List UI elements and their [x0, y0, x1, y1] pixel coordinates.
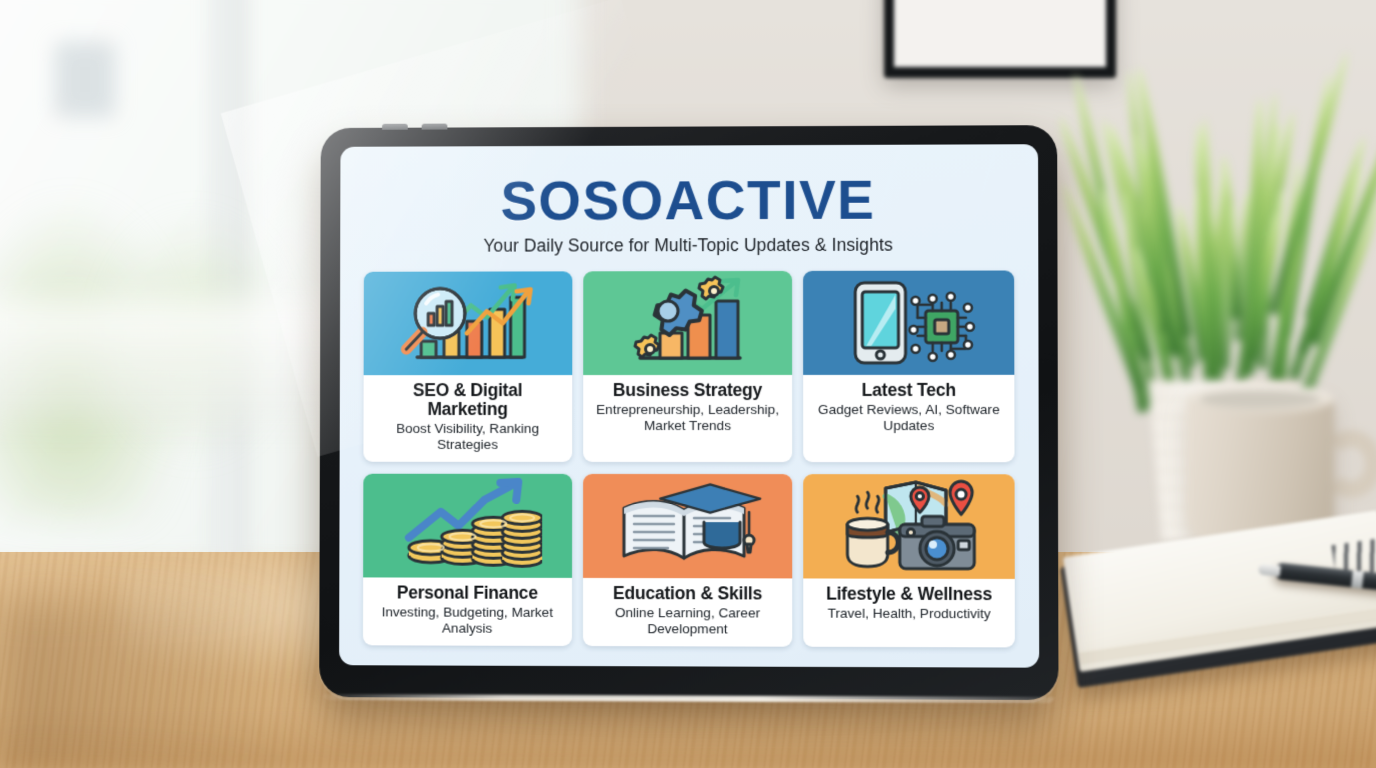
pen-tip: [1258, 564, 1281, 577]
card-body: SEO & Digital Marketing Boost Visibility…: [363, 375, 571, 462]
tablet-device: SOSOACTIVE Your Daily Source for Multi-T…: [319, 125, 1058, 700]
open-book-graduation-cap-icon: [612, 478, 762, 574]
page-title: SOSOACTIVE: [364, 172, 1014, 229]
card-title: Lifestyle & Wellness: [811, 584, 1008, 603]
card-media: [364, 271, 572, 375]
coin-stacks-rising-arrow-icon: [393, 478, 542, 574]
magnifier-bar-chart-growth-arrows-icon: [393, 275, 542, 371]
gears-bar-chart-arrow-icon: [613, 275, 763, 371]
card-body: Education & Skills Online Learning, Care…: [583, 578, 793, 647]
volume-up-button[interactable]: [382, 124, 408, 130]
pen-ring: [1351, 570, 1364, 588]
card-education-skills[interactable]: Education & Skills Online Learning, Care…: [583, 474, 793, 647]
card-description: Investing, Budgeting, Market Analysis: [370, 604, 565, 637]
mug-interior: [1200, 390, 1320, 408]
card-seo-digital-marketing[interactable]: SEO & Digital Marketing Boost Visibility…: [363, 271, 572, 461]
card-title: Business Strategy: [590, 381, 786, 400]
window-pane: [55, 42, 115, 117]
card-body: Lifestyle & Wellness Travel, Health, Pro…: [804, 578, 1015, 647]
page-tagline: Your Daily Source for Multi-Topic Update…: [364, 234, 1014, 256]
card-media: [363, 474, 572, 578]
card-description: Online Learning, Career Development: [590, 605, 786, 638]
card-title: Education & Skills: [590, 584, 786, 603]
category-card-grid: SEO & Digital Marketing Boost Visibility…: [363, 271, 1015, 648]
card-media: [804, 474, 1015, 579]
picture-mat: [894, 0, 1106, 67]
smartphone-circuit-chip-icon: [833, 275, 984, 371]
card-body: Personal Finance Investing, Budgeting, M…: [363, 577, 572, 646]
card-description: Gadget Reviews, AI, Software Updates: [811, 402, 1008, 434]
card-body: Business Strategy Entrepreneurship, Lead…: [583, 375, 793, 462]
card-latest-tech[interactable]: Latest Tech Gadget Reviews, AI, Software…: [803, 271, 1014, 463]
card-title: Personal Finance: [370, 583, 565, 602]
card-business-strategy[interactable]: Business Strategy Entrepreneurship, Lead…: [583, 271, 793, 462]
card-description: Entrepreneurship, Leadership, Market Tre…: [590, 402, 786, 434]
framed-picture: [884, 0, 1116, 78]
card-media: [583, 271, 793, 375]
coffee-mug-map-camera-pin-icon: [833, 478, 984, 575]
spiral-notebook: [1078, 548, 1376, 718]
card-body: Latest Tech Gadget Reviews, AI, Software…: [803, 375, 1014, 462]
card-title: SEO & Digital Marketing: [370, 381, 564, 419]
card-personal-finance[interactable]: Personal Finance Investing, Budgeting, M…: [363, 474, 572, 646]
card-media: [803, 271, 1014, 375]
volume-down-button[interactable]: [422, 124, 448, 130]
card-description: Boost Visibility, Ranking Strategies: [370, 421, 565, 453]
card-title: Latest Tech: [810, 381, 1007, 400]
tablet-screen: SOSOACTIVE Your Daily Source for Multi-T…: [339, 144, 1039, 667]
card-description: Travel, Health, Productivity: [811, 605, 1008, 622]
card-lifestyle-wellness[interactable]: Lifestyle & Wellness Travel, Health, Pro…: [804, 474, 1015, 647]
card-media: [583, 474, 793, 578]
